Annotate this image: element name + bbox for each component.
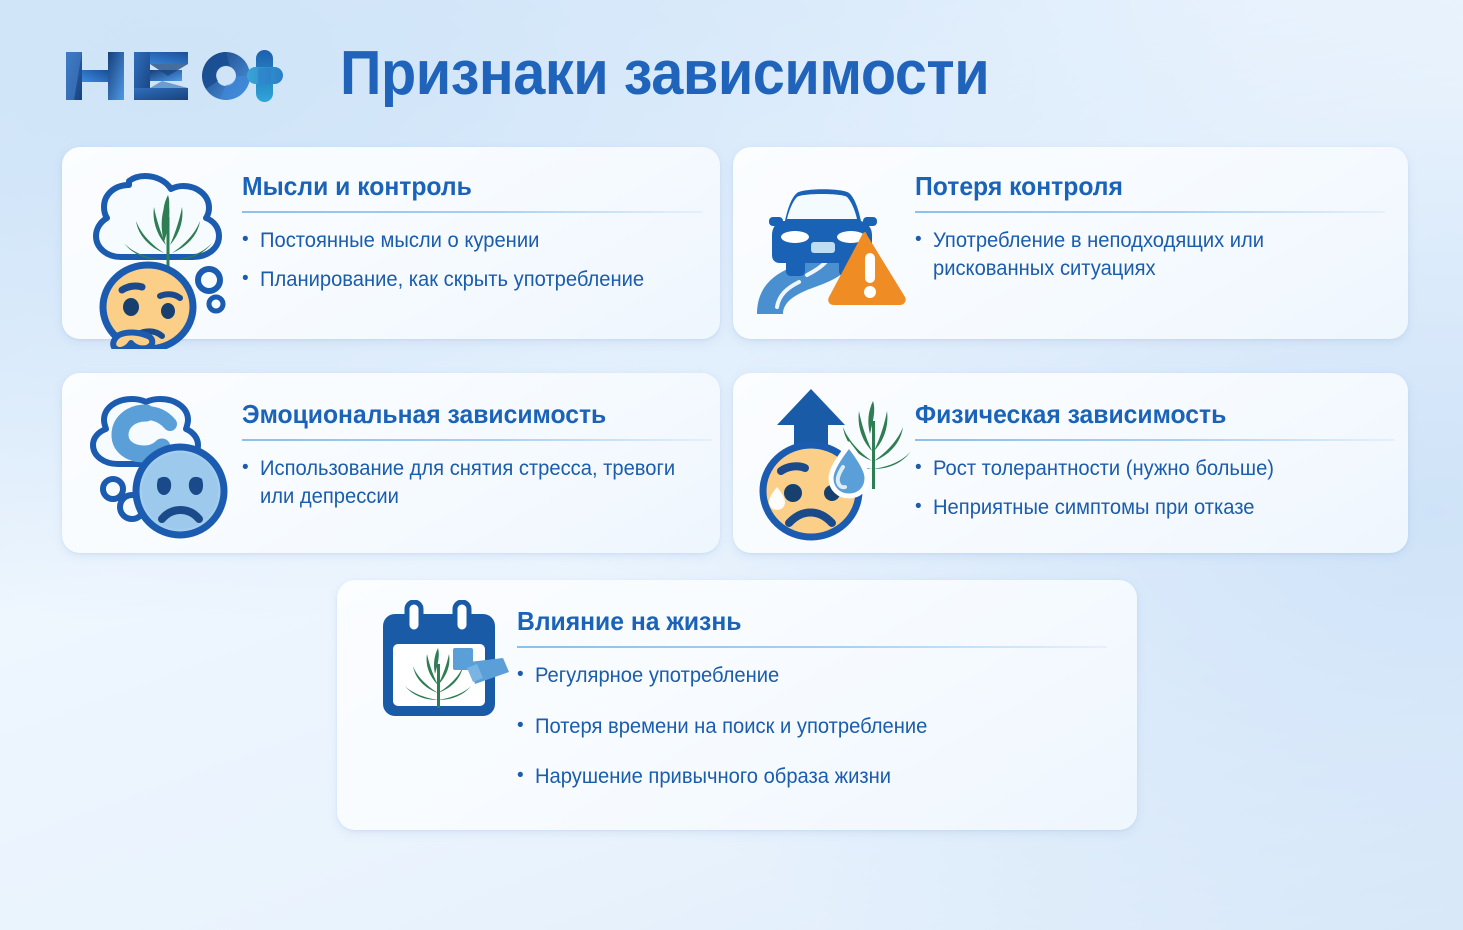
card-physical-dependence: Физическая зависимость • Рост толерантно… xyxy=(733,373,1408,553)
bullet-marker: • xyxy=(242,227,260,255)
card-loss-of-control: Потеря контроля • Употребление в неподхо… xyxy=(733,147,1408,339)
card-body: Эмоциональная зависимость • Использовани… xyxy=(242,399,712,521)
list-item-text: Неприятные симптомы при отказе xyxy=(933,494,1255,522)
list-item-text: Использование для снятия стресса, тревог… xyxy=(260,455,694,510)
list-item-text: Рост толерантности (нужно больше) xyxy=(933,455,1274,483)
neo-plus-logo xyxy=(62,44,284,106)
title-divider xyxy=(242,439,712,441)
bullet-list: • Использование для снятия стресса, трев… xyxy=(242,455,712,510)
title-divider xyxy=(915,439,1395,441)
list-item: • Постоянные мысли о курении xyxy=(242,227,702,255)
list-item: • Планирование, как скрыть употребление xyxy=(242,266,702,294)
bullet-marker: • xyxy=(242,266,260,294)
car-on-winding-road-with-warning-triangle-icon xyxy=(747,159,917,319)
card-title: Физическая зависимость xyxy=(915,399,1371,430)
bullet-list: • Регулярное употребление • Потеря време… xyxy=(517,662,1107,791)
bullet-list: • Употребление в неподходящих или рисков… xyxy=(915,227,1385,282)
card-body: Физическая зависимость • Рост толерантно… xyxy=(915,399,1395,532)
card-title: Эмоциональная зависимость xyxy=(242,399,689,430)
list-item-text: Потеря времени на поиск и употребление xyxy=(535,713,927,741)
list-item: • Регулярное употребление xyxy=(517,662,1107,690)
list-item: • Неприятные симптомы при отказе xyxy=(915,494,1395,522)
card-title: Потеря контроля xyxy=(915,171,1362,202)
bullet-marker: • xyxy=(517,763,535,791)
list-item: • Нарушение привычного образа жизни xyxy=(517,763,1107,791)
card-thoughts-and-control: Мысли и контроль • Постоянные мысли о ку… xyxy=(62,147,720,339)
card-emotional-dependence: Эмоциональная зависимость • Использовани… xyxy=(62,373,720,553)
card-title: Мысли и контроль xyxy=(242,171,679,202)
list-item-text: Нарушение привычного образа жизни xyxy=(535,763,891,791)
bullet-list: • Постоянные мысли о курении • Планирова… xyxy=(242,227,702,293)
bullet-marker: • xyxy=(517,662,535,690)
header: Признаки зависимости xyxy=(0,0,1463,140)
sad-blue-face-with-thought-cloud-icon xyxy=(88,391,253,541)
card-body: Потеря контроля • Употребление в неподхо… xyxy=(915,171,1385,293)
list-item-text: Планирование, как скрыть употребление xyxy=(260,266,644,294)
card-body: Влияние на жизнь • Регулярное употреблен… xyxy=(517,606,1107,814)
card-title: Влияние на жизнь xyxy=(517,606,1078,637)
bullet-marker: • xyxy=(915,494,933,522)
list-item: • Потеря времени на поиск и употребление xyxy=(517,713,1107,741)
bullet-marker: • xyxy=(517,713,535,741)
bullet-marker: • xyxy=(915,227,933,282)
list-item-text: Регулярное употребление xyxy=(535,662,779,690)
page-title: Признаки зависимости xyxy=(340,38,989,109)
list-item-text: Постоянные мысли о курении xyxy=(260,227,539,255)
title-divider xyxy=(242,211,702,213)
thinking-face-with-cannabis-thought-bubble-icon xyxy=(84,159,254,349)
title-divider xyxy=(915,211,1385,213)
list-item-text: Употребление в неподходящих или рискован… xyxy=(933,227,1367,282)
bullet-marker: • xyxy=(242,455,260,510)
list-item: • Рост толерантности (нужно больше) xyxy=(915,455,1395,483)
bullet-marker: • xyxy=(915,455,933,483)
calendar-with-cannabis-leaf-icon xyxy=(375,600,515,720)
anxious-sweating-face-with-up-arrow-and-leaf-icon xyxy=(753,381,923,546)
title-divider xyxy=(517,646,1107,648)
list-item: • Использование для снятия стресса, трев… xyxy=(242,455,712,510)
list-item: • Употребление в неподходящих или рисков… xyxy=(915,227,1385,282)
card-body: Мысли и контроль • Постоянные мысли о ку… xyxy=(242,171,702,304)
bullet-list: • Рост толерантности (нужно больше) • Не… xyxy=(915,455,1395,521)
card-impact-on-life: Влияние на жизнь • Регулярное употреблен… xyxy=(337,580,1137,830)
